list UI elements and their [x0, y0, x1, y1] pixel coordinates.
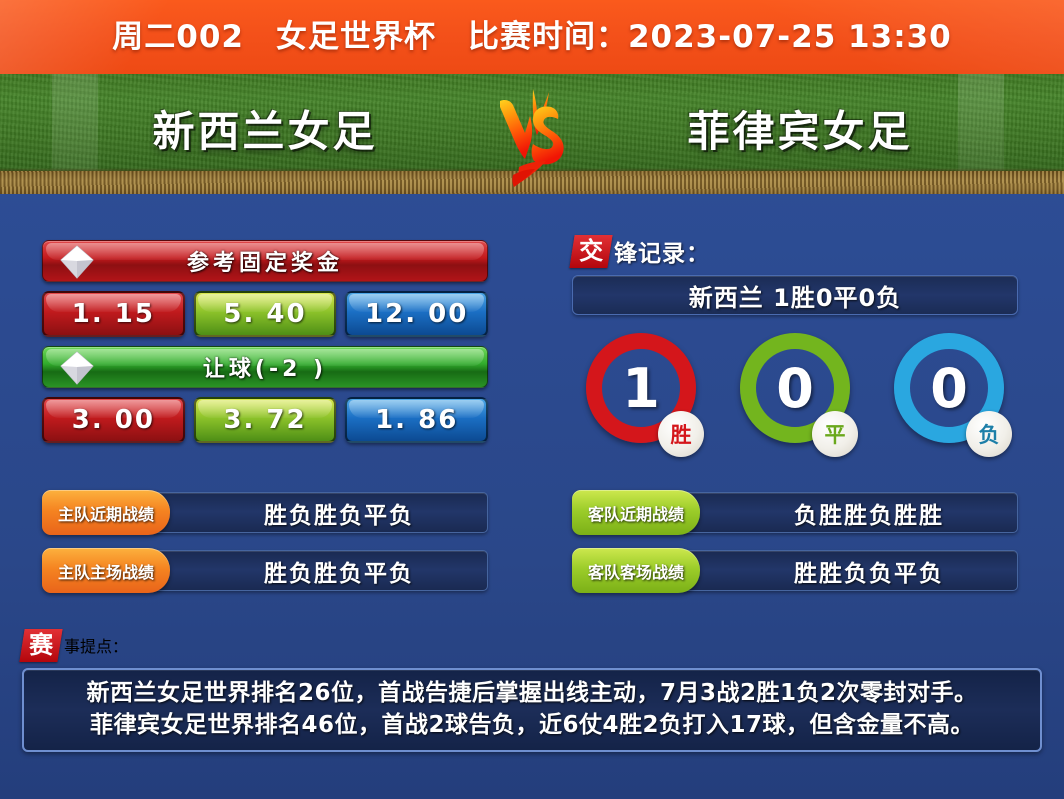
tips-title-text: 事提点：	[64, 633, 128, 657]
handicap-button-away-win[interactable]: 1. 86	[345, 397, 488, 443]
diamond-icon	[59, 244, 95, 280]
away-form-block: 负胜胜负胜胜 客队近期战绩 胜胜负负平负 客队客场战绩	[572, 492, 1018, 608]
handicap-button-home-win[interactable]: 3. 00	[42, 397, 185, 443]
ring-badge-win: 胜	[658, 411, 704, 457]
ring-draw: 0 平	[736, 331, 854, 461]
handicap-value-draw: 3. 72	[223, 405, 306, 435]
handicap-value-away-win: 1. 86	[375, 405, 458, 435]
away-team-name: 菲律宾女足	[610, 96, 990, 168]
h2h-tag-badge: 交	[569, 235, 612, 268]
h2h-title-text: 锋记录：	[614, 234, 710, 268]
ring-label-draw: 平	[825, 419, 846, 449]
header-bar: 周二002 女足世界杯 比赛时间：2023-07-25 13:30	[0, 0, 1064, 74]
odds-value-away-win: 12. 00	[365, 299, 468, 329]
home-recent-form-tab[interactable]: 主队近期战绩	[42, 490, 170, 535]
tips-tag-char: 赛	[29, 629, 53, 661]
odds-value-draw: 5. 40	[223, 299, 306, 329]
away-away-form-results: 胜胜负负平负	[680, 550, 1018, 591]
away-away-form-tab[interactable]: 客队客场战绩	[572, 548, 700, 593]
spacer	[42, 388, 488, 397]
spacer	[42, 337, 488, 346]
fixed-odds-title: 参考固定奖金	[187, 245, 343, 277]
header-title: 周二002 女足世界杯 比赛时间：2023-07-25 13:30	[0, 0, 1064, 74]
away-recent-form-results: 负胜胜负胜胜	[680, 492, 1018, 533]
away-away-form-row: 胜胜负负平负 客队客场战绩	[572, 550, 1018, 591]
home-home-form-row: 胜负胜负平负 主队主场战绩	[42, 550, 488, 591]
ring-label-win: 胜	[671, 419, 692, 449]
h2h-tag-char: 交	[579, 235, 603, 267]
odds-panel: 参考固定奖金 1. 15 5. 40 12. 00	[42, 240, 488, 443]
tips-line-away: 菲律宾女足世界排名46位，首战2球告负，近6仗4胜2负打入17球，但含金量不高。	[34, 709, 1030, 741]
spacer	[42, 282, 488, 291]
home-home-form-results: 胜负胜负平负	[150, 550, 488, 591]
match-preview-page: 周二002 女足世界杯 比赛时间：2023-07-25 13:30 新西兰女足 …	[0, 0, 1064, 799]
home-recent-form-results: 胜负胜负平负	[150, 492, 488, 533]
tips-tag-badge: 赛	[19, 629, 62, 662]
diamond-icon	[59, 350, 95, 386]
handicap-odds-row: 3. 00 3. 72 1. 86	[42, 397, 488, 443]
tips-line-home: 新西兰女足世界排名26位，首战告捷后掌握出线主动，7月3战2胜1负2次零封对手。	[34, 677, 1030, 709]
vs-flame-icon	[489, 83, 579, 188]
home-form-block: 胜负胜负平负 主队近期战绩 胜负胜负平负 主队主场战绩	[42, 492, 488, 608]
odds-value-home-win: 1. 15	[72, 299, 155, 329]
home-team-name: 新西兰女足	[75, 96, 455, 168]
handicap-button-draw[interactable]: 3. 72	[194, 397, 337, 443]
home-home-form-tab[interactable]: 主队主场战绩	[42, 548, 170, 593]
tips-content-box: 新西兰女足世界排名26位，首战告捷后掌握出线主动，7月3战2胜1负2次零封对手。…	[22, 668, 1042, 752]
fixed-odds-header: 参考固定奖金	[42, 240, 488, 282]
match-tips-panel: 赛 事提点： 新西兰女足世界排名26位，首战告捷后掌握出线主动，7月3战2胜1负…	[22, 628, 1042, 752]
odds-button-draw[interactable]: 5. 40	[194, 291, 337, 337]
h2h-rings: 1 胜 0 平 0	[572, 331, 1018, 481]
ring-win: 1 胜	[582, 331, 700, 461]
handicap-header: 让球(-2 )	[42, 346, 488, 388]
ring-badge-draw: 平	[812, 411, 858, 457]
tips-title: 赛 事提点：	[22, 628, 1042, 662]
ring-label-lose: 负	[979, 419, 1000, 449]
handicap-title: 让球(-2 )	[203, 351, 327, 383]
odds-button-home-win[interactable]: 1. 15	[42, 291, 185, 337]
fixed-odds-row: 1. 15 5. 40 12. 00	[42, 291, 488, 337]
away-recent-form-row: 负胜胜负胜胜 客队近期战绩	[572, 492, 1018, 533]
away-recent-form-tab[interactable]: 客队近期战绩	[572, 490, 700, 535]
h2h-summary: 新西兰 1胜0平0负	[572, 275, 1018, 315]
odds-button-away-win[interactable]: 12. 00	[345, 291, 488, 337]
handicap-value-home-win: 3. 00	[72, 405, 155, 435]
ring-lose: 0 负	[890, 331, 1008, 461]
head-to-head-panel: 交 锋记录： 新西兰 1胜0平0负 1 胜 0	[572, 234, 1018, 481]
content-area: 参考固定奖金 1. 15 5. 40 12. 00	[0, 194, 1064, 799]
head-to-head-title: 交 锋记录：	[572, 234, 1018, 268]
ring-badge-lose: 负	[966, 411, 1012, 457]
home-recent-form-row: 胜负胜负平负 主队近期战绩	[42, 492, 488, 533]
